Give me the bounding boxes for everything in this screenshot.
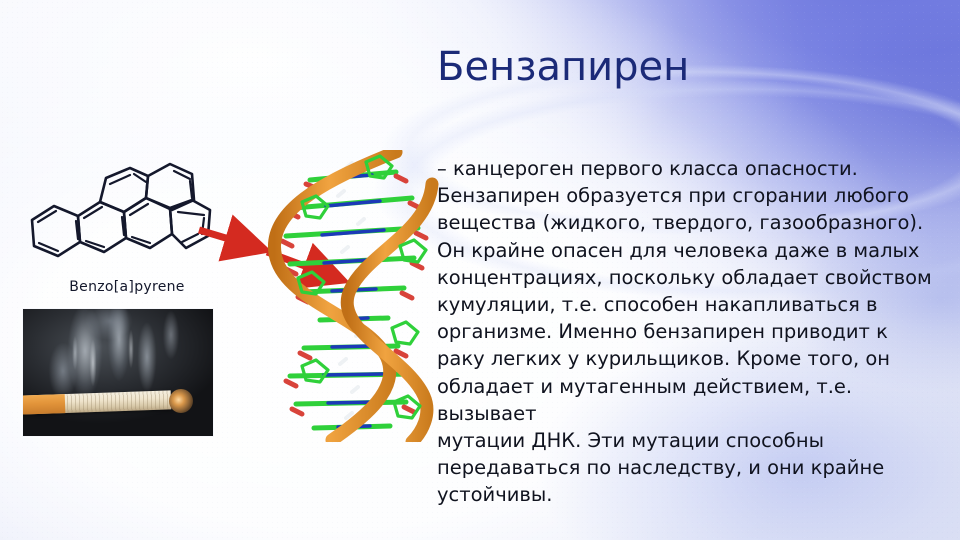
- cigarette-filter: [22, 394, 65, 415]
- chem-structure-caption: Benzo[a]pyrene: [52, 279, 202, 295]
- cigarette-ember: [169, 389, 193, 413]
- photo-smoke-wisps: [23, 309, 213, 436]
- dna-backbone-strand-1: [274, 152, 396, 440]
- burning-cigarette-photo: [22, 308, 214, 437]
- dna-double-helix-illustration: [246, 150, 446, 442]
- body-paragraph: – канцероген первого класса опасности. Б…: [437, 155, 937, 509]
- benzo-a-pyrene-structure: [24, 158, 224, 278]
- cigarette-paper-texture: [67, 390, 172, 413]
- page-title: Бензапирен: [437, 44, 757, 90]
- slide-canvas: Benzo[a]pyrene: [0, 0, 960, 540]
